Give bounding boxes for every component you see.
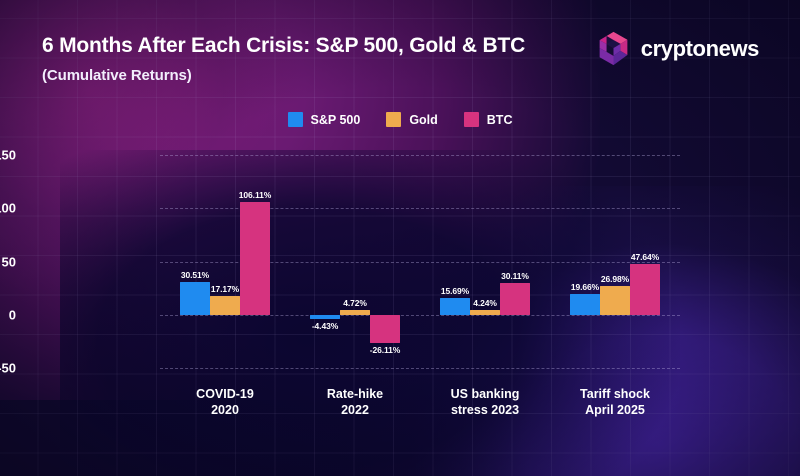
bar-value-label: 30.11%: [484, 271, 546, 281]
y-axis-tick-label: 100: [0, 201, 16, 216]
legend-label: S&P 500: [311, 113, 361, 127]
bar[interactable]: [240, 202, 270, 315]
x-axis-category-label: Tariff shockApril 2025: [550, 386, 680, 418]
bar[interactable]: [470, 310, 500, 315]
bar[interactable]: [370, 315, 400, 343]
legend-item-s-p-500[interactable]: S&P 500: [288, 112, 361, 127]
bar-value-label: -4.43%: [294, 321, 356, 331]
bar[interactable]: [630, 264, 660, 315]
bar-chart: S&P 500GoldBTC 150100500-5030.51%17.17%1…: [0, 0, 800, 476]
legend-item-btc[interactable]: BTC: [464, 112, 513, 127]
y-axis-tick-label: 150: [0, 148, 16, 163]
x-axis-category-label-line: 2022: [290, 402, 420, 418]
gridline: [160, 262, 680, 263]
bar[interactable]: [600, 286, 630, 315]
bar[interactable]: [570, 294, 600, 315]
x-axis-category-label-line: US banking: [420, 386, 550, 402]
y-axis-tick-label: -50: [0, 361, 16, 376]
plot-area: 150100500-5030.51%17.17%106.11%COVID-192…: [160, 155, 680, 368]
legend-swatch-icon: [386, 112, 401, 127]
chart-legend: S&P 500GoldBTC: [0, 112, 800, 127]
legend-swatch-icon: [464, 112, 479, 127]
bar-value-label: 106.11%: [224, 190, 286, 200]
gridline: [160, 315, 680, 316]
bar[interactable]: [310, 315, 340, 320]
bar-value-label: 30.51%: [164, 270, 226, 280]
x-axis-category-label-line: Rate-hike: [290, 386, 420, 402]
x-axis-category-label-line: COVID-19: [160, 386, 290, 402]
legend-item-gold[interactable]: Gold: [386, 112, 437, 127]
y-axis-tick-label: 50: [0, 254, 16, 269]
bar[interactable]: [500, 283, 530, 315]
bar[interactable]: [210, 296, 240, 314]
x-axis-category-label: COVID-192020: [160, 386, 290, 418]
legend-label: Gold: [409, 113, 437, 127]
bar-value-label: 47.64%: [614, 252, 676, 262]
legend-swatch-icon: [288, 112, 303, 127]
x-axis-category-label-line: 2020: [160, 402, 290, 418]
legend-label: BTC: [487, 113, 513, 127]
x-axis-category-label-line: Tariff shock: [550, 386, 680, 402]
gridline: [160, 368, 680, 369]
bar-value-label: -26.11%: [354, 345, 416, 355]
x-axis-category-label: US bankingstress 2023: [420, 386, 550, 418]
bar[interactable]: [340, 310, 370, 315]
bar-value-label: 15.69%: [424, 286, 486, 296]
bar-value-label: 4.72%: [324, 298, 386, 308]
gridline: [160, 208, 680, 209]
y-axis-tick-label: 0: [0, 307, 16, 322]
gridline: [160, 155, 680, 156]
x-axis-category-label-line: stress 2023: [420, 402, 550, 418]
x-axis-category-label: Rate-hike2022: [290, 386, 420, 418]
x-axis-category-label-line: April 2025: [550, 402, 680, 418]
